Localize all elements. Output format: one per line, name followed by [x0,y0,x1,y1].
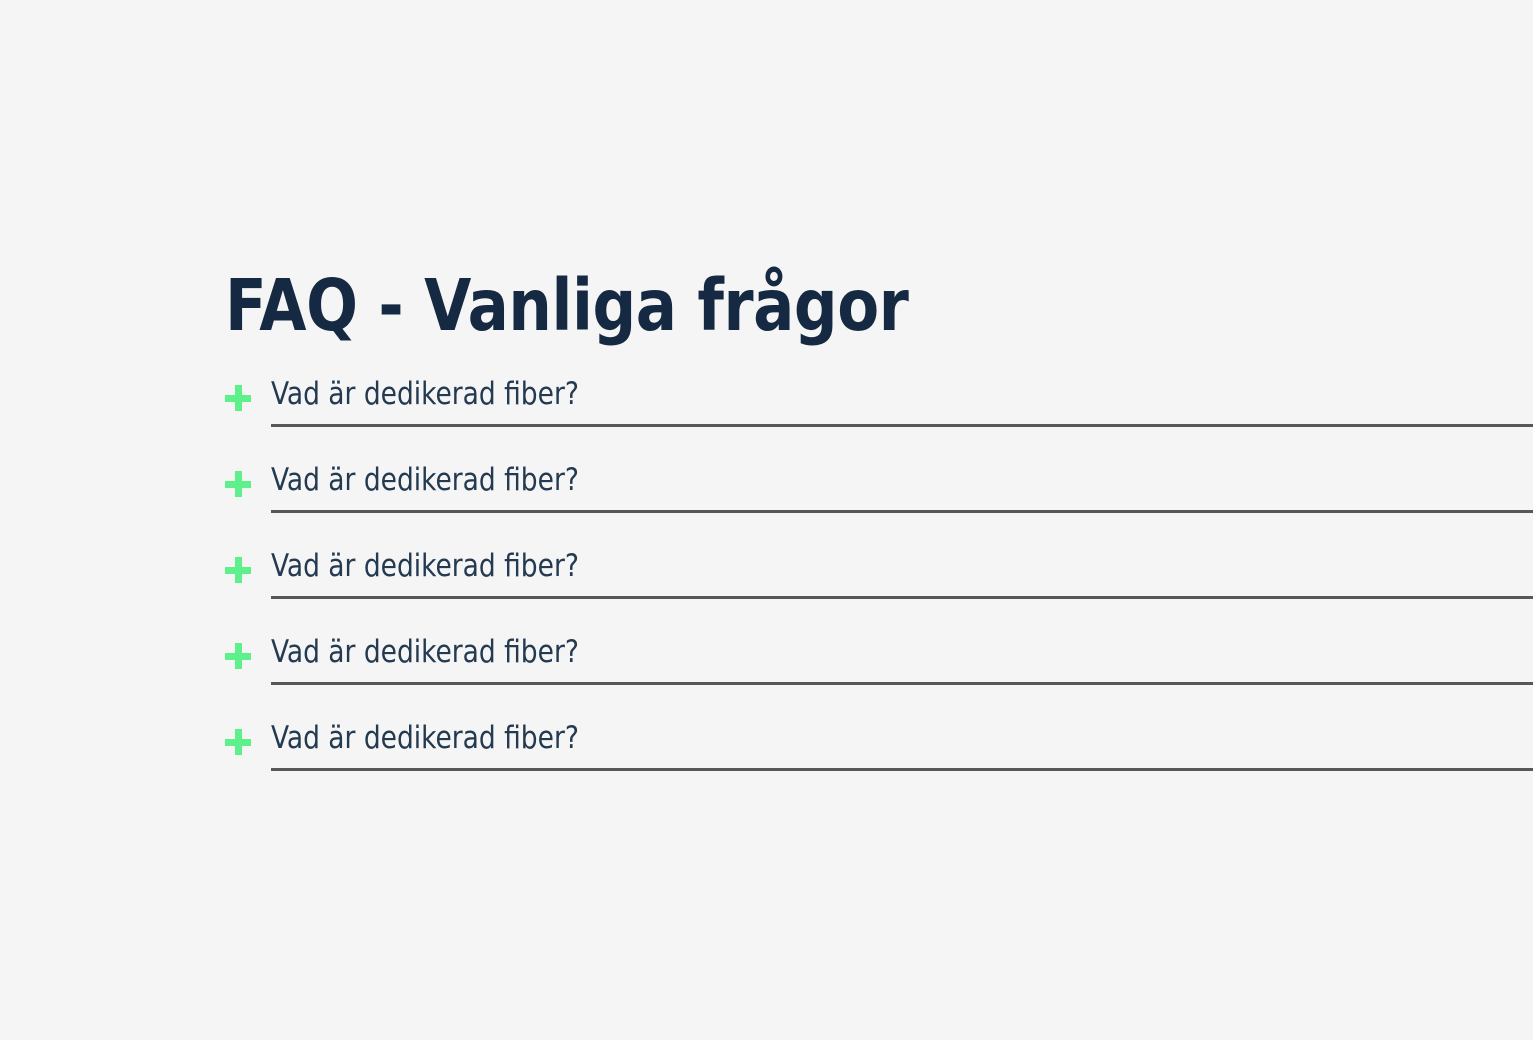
page-title: FAQ - Vanliga frågor [225,270,1350,341]
plus-icon[interactable] [225,557,251,583]
faq-question-label: Vad är dedikerad fiber? [271,635,1508,671]
plus-icon[interactable] [225,729,251,755]
faq-item-header[interactable]: Vad är dedikerad fiber? [225,377,1533,427]
faq-item-header[interactable]: Vad är dedikerad fiber? [225,463,1533,513]
faq-item[interactable]: Vad är dedikerad fiber? [225,463,1533,549]
plus-icon[interactable] [225,643,251,669]
faq-item[interactable]: Vad är dedikerad fiber? [225,549,1533,635]
faq-question-container[interactable]: Vad är dedikerad fiber? [271,721,1533,771]
faq-question-label: Vad är dedikerad fiber? [271,721,1508,757]
faq-question-label: Vad är dedikerad fiber? [271,377,1508,413]
faq-question-container[interactable]: Vad är dedikerad fiber? [271,549,1533,599]
faq-question-container[interactable]: Vad är dedikerad fiber? [271,377,1533,427]
faq-item[interactable]: Vad är dedikerad fiber? [225,377,1533,463]
faq-item[interactable]: Vad är dedikerad fiber? [225,721,1533,807]
plus-icon[interactable] [225,471,251,497]
faq-item[interactable]: Vad är dedikerad fiber? [225,635,1533,721]
faq-section: FAQ - Vanliga frågor Vad är dedikerad fi… [225,270,1533,807]
faq-accordion-list: Vad är dedikerad fiber? Vad är dedikerad… [225,377,1533,807]
faq-question-label: Vad är dedikerad fiber? [271,549,1508,585]
faq-item-header[interactable]: Vad är dedikerad fiber? [225,549,1533,599]
faq-question-label: Vad är dedikerad fiber? [271,463,1508,499]
plus-icon[interactable] [225,385,251,411]
faq-item-header[interactable]: Vad är dedikerad fiber? [225,721,1533,771]
faq-item-header[interactable]: Vad är dedikerad fiber? [225,635,1533,685]
faq-question-container[interactable]: Vad är dedikerad fiber? [271,635,1533,685]
faq-question-container[interactable]: Vad är dedikerad fiber? [271,463,1533,513]
